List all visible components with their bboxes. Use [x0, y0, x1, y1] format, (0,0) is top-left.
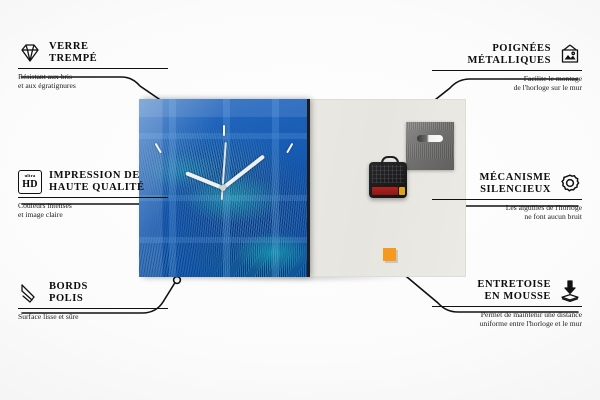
feature-desc-line: et image claire — [18, 210, 168, 219]
diamond-icon — [18, 41, 42, 65]
metal-hanger-plate-icon — [406, 122, 454, 170]
feature-desc-line: Permet de maintenir une distance — [432, 310, 582, 319]
feature-title-line: MÉCANISME — [480, 172, 551, 184]
feature-desc-line: Les aiguilles de l'horloge — [432, 203, 582, 212]
feature-divider — [432, 70, 582, 71]
feature-desc-line: Facilite le montage — [432, 74, 582, 83]
hour-hand — [185, 171, 224, 190]
polished-edges-icon — [18, 281, 42, 305]
feature-mecanisme-silencieux: MÉCANISME SILENCIEUX Les aiguilles de l'… — [432, 172, 582, 221]
feature-title-line: SILENCIEUX — [480, 184, 551, 196]
feature-desc-line: ne font aucun bruit — [432, 212, 582, 221]
feature-divider — [18, 68, 168, 69]
foam-spacer-icon — [558, 279, 582, 303]
battery-terminal — [399, 187, 405, 195]
infographic-canvas: VERRE TREMPÉ Résistant aux bris et aux é… — [0, 0, 600, 400]
feature-title-line: MÉTALLIQUES — [468, 55, 551, 67]
mechanism-texture — [372, 165, 404, 183]
feature-verre-trempe: VERRE TREMPÉ Résistant aux bris et aux é… — [18, 41, 168, 90]
feature-divider — [432, 306, 582, 307]
feature-poignees-metalliques: POIGNÉES MÉTALLIQUES Facilite le montage… — [432, 43, 582, 92]
feature-title-line: ENTRETOISE — [477, 279, 551, 291]
feature-title-line: POLIS — [49, 293, 88, 305]
feature-divider — [18, 197, 168, 198]
feature-desc-line: Surface lisse et sûre — [18, 312, 168, 321]
gear-icon — [558, 172, 582, 196]
orange-foam-spacer — [383, 248, 396, 261]
picture-hanger-icon — [558, 43, 582, 67]
hanger-keyhole-slot — [417, 135, 443, 142]
feature-title-line: IMPRESSION DE — [49, 170, 145, 182]
feature-desc-line: de l'horloge sur le mur — [432, 83, 582, 92]
clock-mechanism — [369, 162, 407, 198]
battery — [372, 187, 398, 195]
feature-entretoise-en-mousse: ENTRETOISE EN MOUSSE Permet de maintenir… — [432, 279, 582, 328]
feature-desc-line: Couleurs intenses — [18, 201, 168, 210]
minute-hand — [222, 154, 265, 189]
ultra-hd-icon: ultra HD — [18, 170, 42, 194]
feature-title-line: BORDS — [49, 281, 88, 293]
feature-title-line: POIGNÉES — [468, 43, 551, 55]
feature-bords-polis: BORDS POLIS Surface lisse et sûre — [18, 281, 168, 321]
feature-impression-haute-qualite: IMPRESSION DE HAUTE QUALITÉ ultra HD Cou… — [18, 170, 168, 219]
product-image — [139, 99, 466, 277]
feature-divider — [18, 308, 168, 309]
feature-divider — [432, 199, 582, 200]
feature-title-line: EN MOUSSE — [477, 291, 551, 303]
hand-center-cap — [220, 185, 226, 191]
feature-title-line: VERRE — [49, 41, 97, 53]
feature-desc-line: Résistant aux bris — [18, 72, 168, 81]
second-hand — [221, 142, 227, 200]
feature-desc-line: uniforme entre l'horloge et le mur — [432, 319, 582, 328]
feature-title-line: HAUTE QUALITÉ — [49, 182, 145, 194]
ultra-hd-icon-main-label: HD — [22, 180, 38, 190]
feature-title-line: TREMPÉ — [49, 53, 97, 65]
feature-desc-line: et aux égratignures — [18, 81, 168, 90]
